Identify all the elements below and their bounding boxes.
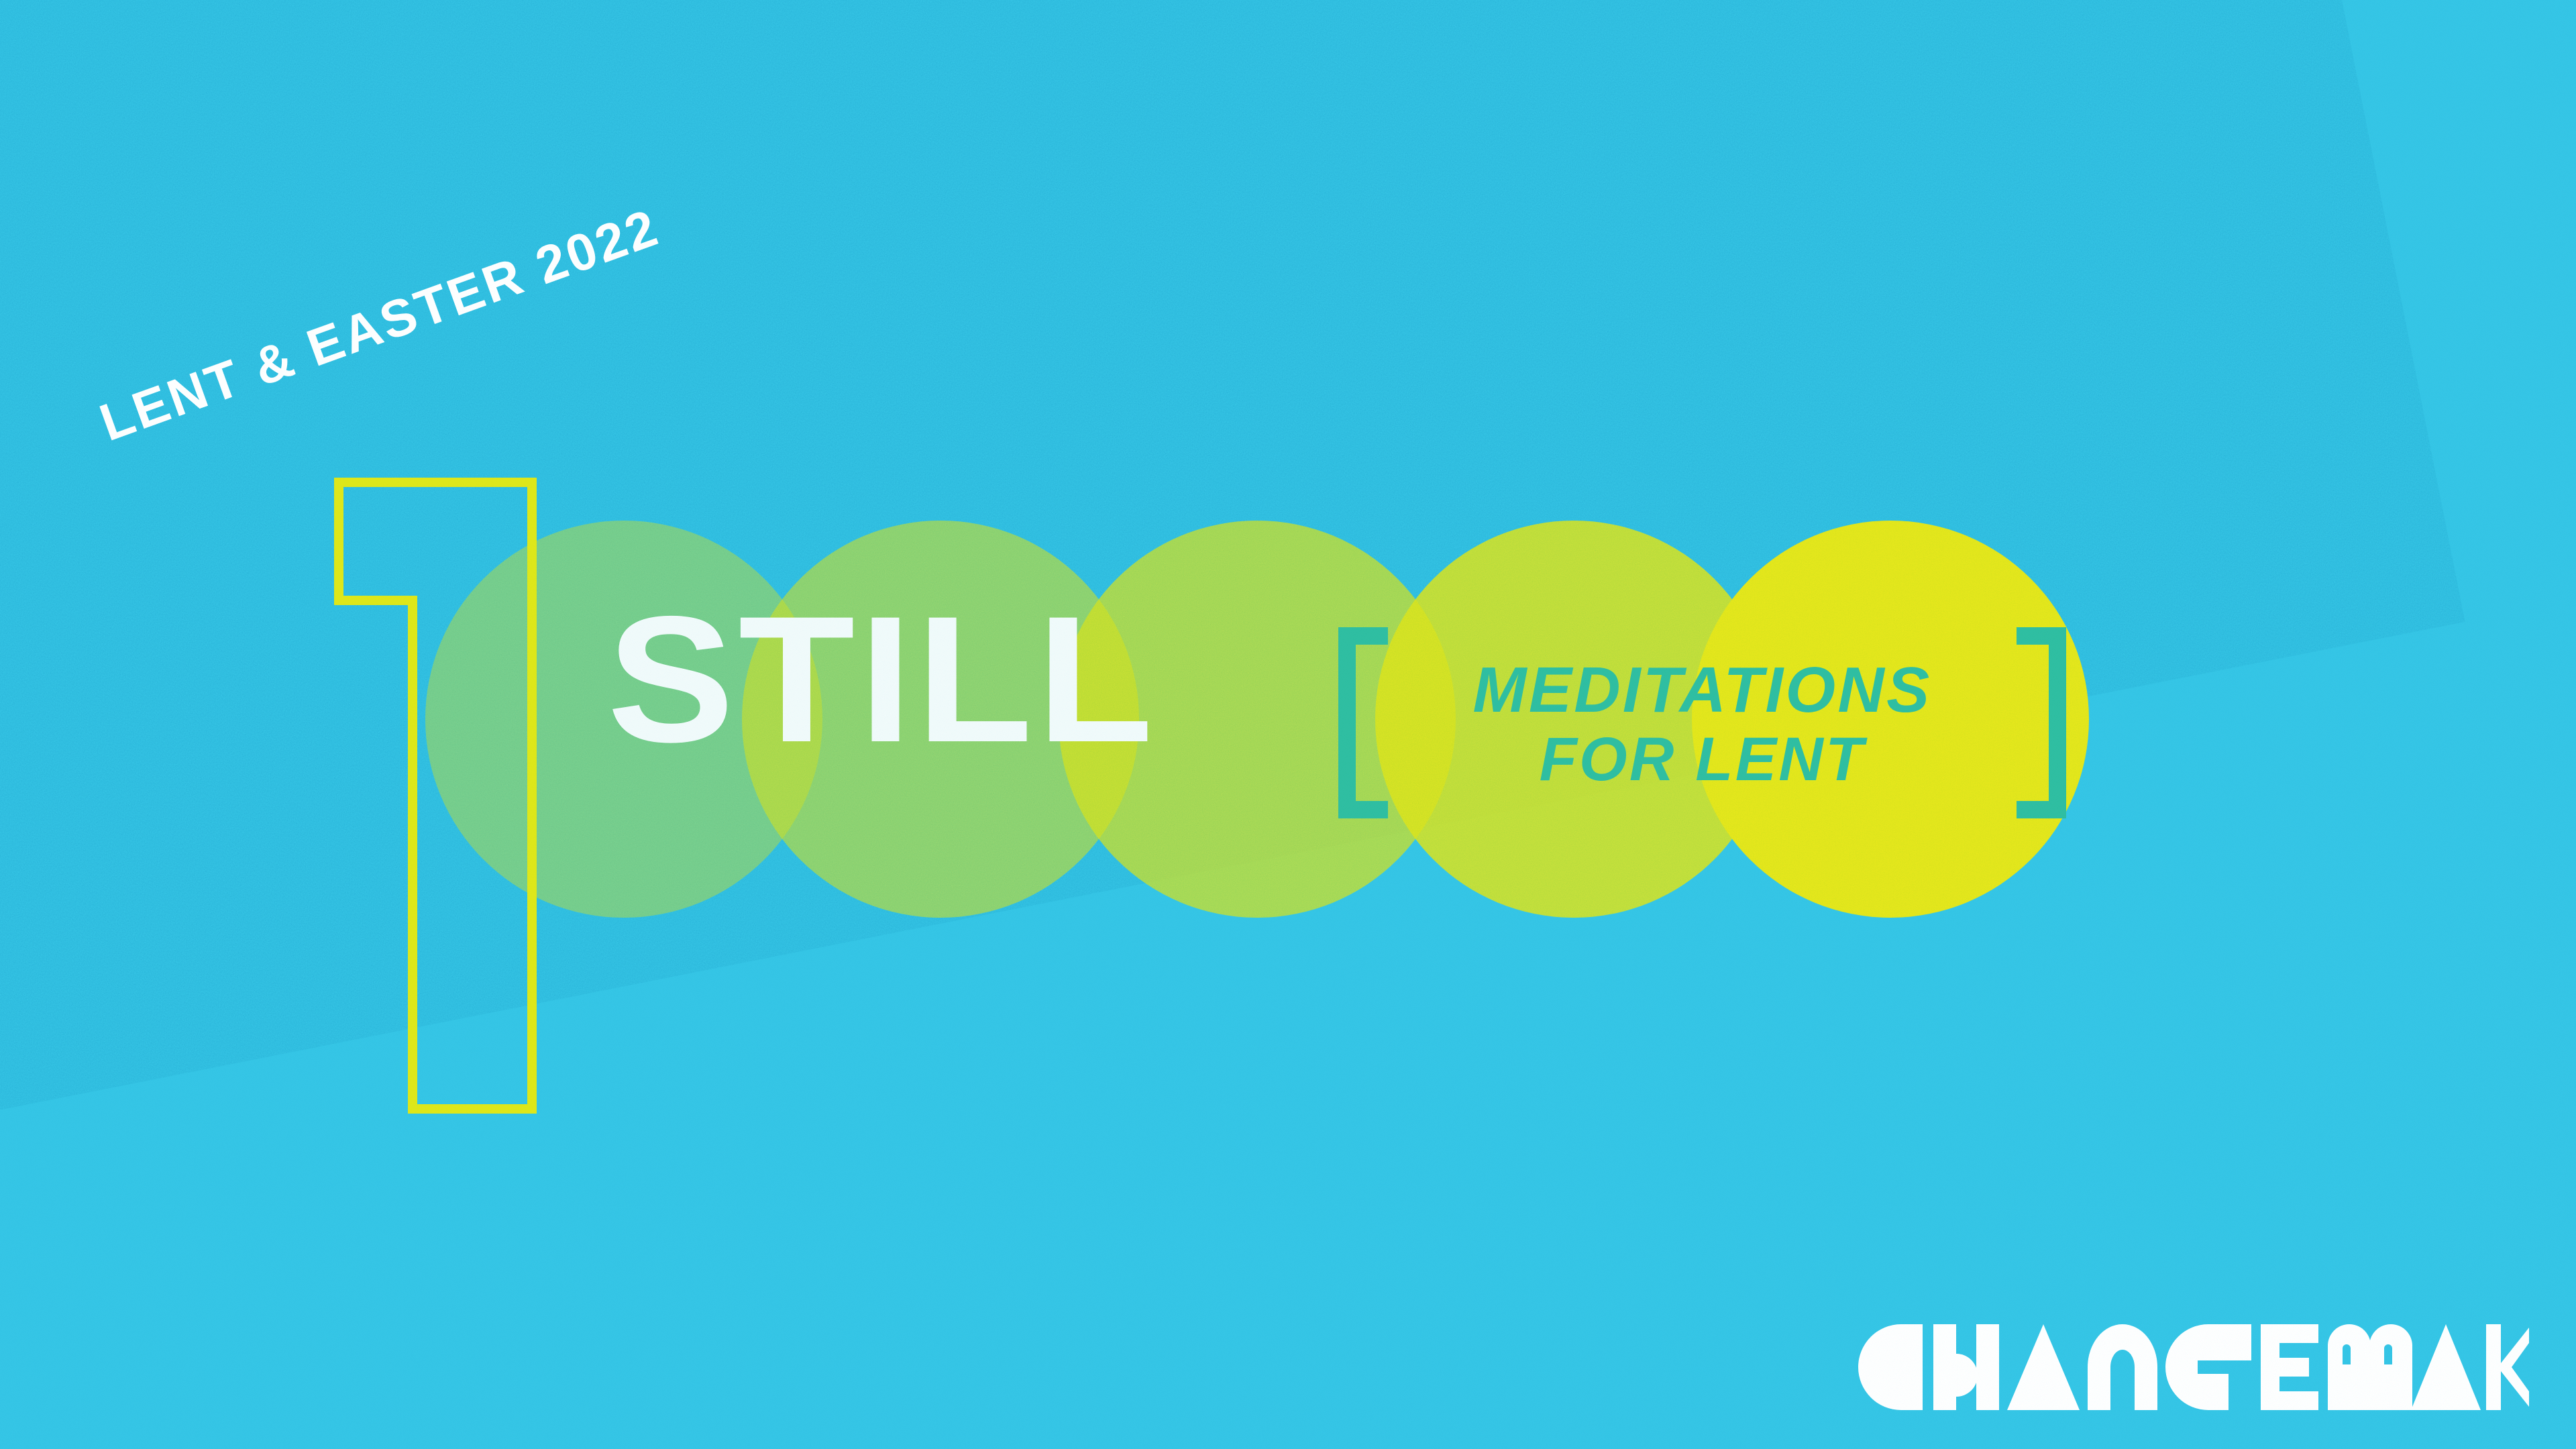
changemaker-logo bbox=[1858, 1324, 2529, 1410]
subtitle-lines: MEDITATIONS FOR LENT bbox=[1413, 630, 1991, 818]
logo-letter-a bbox=[2007, 1324, 2080, 1410]
subtitle-line-1: MEDITATIONS bbox=[1472, 657, 1931, 723]
logo-letter-h-stem-right bbox=[1976, 1324, 1999, 1410]
logo-letter-h-bowl bbox=[1956, 1354, 1978, 1397]
logo-letter-a2 bbox=[2411, 1324, 2481, 1410]
numeral-one-outline bbox=[334, 478, 604, 1114]
poster-canvas: STILL MEDITATIONS FOR LENT LENT & EASTER… bbox=[0, 0, 2576, 1449]
logo-letter-h-stem-left bbox=[1933, 1324, 1956, 1410]
bracket-right-icon bbox=[2017, 627, 2066, 818]
numeral-one-path bbox=[339, 482, 532, 1109]
logo-letter-e-stem bbox=[2261, 1324, 2279, 1410]
logo-letter-c bbox=[1858, 1324, 1923, 1410]
logo-letter-k-stem bbox=[2486, 1324, 2501, 1410]
subtitle-line-2: FOR LENT bbox=[1540, 729, 1866, 792]
logo-letter-k-arms bbox=[2501, 1324, 2529, 1410]
logo-letter-n bbox=[2088, 1324, 2157, 1410]
logo-letter-g bbox=[2165, 1324, 2251, 1410]
page-title: STILL bbox=[607, 598, 1157, 760]
logo-letter-m-body bbox=[2328, 1364, 2412, 1410]
subtitle-block: MEDITATIONS FOR LENT bbox=[1338, 627, 2066, 818]
bracket-left-icon bbox=[1338, 627, 1388, 818]
